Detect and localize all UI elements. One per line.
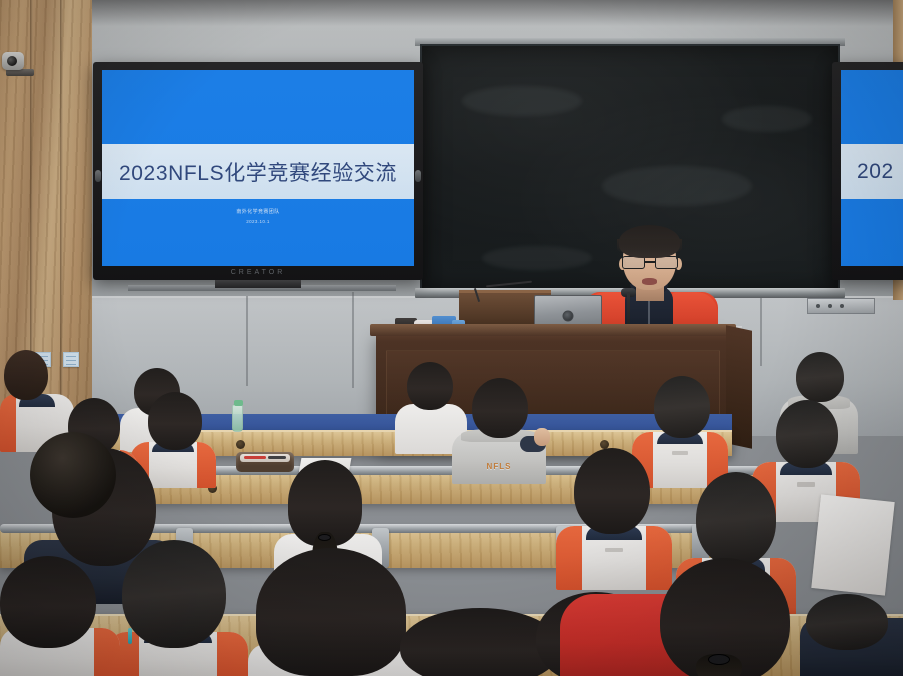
desk-grommet-1 bbox=[236, 440, 245, 449]
ceiling-shadow bbox=[0, 0, 903, 26]
audience-member-front-0 bbox=[0, 556, 120, 676]
display-panel-right: 202 bbox=[841, 70, 903, 266]
pen bbox=[128, 628, 132, 644]
wall-seam-vertical-c bbox=[760, 296, 762, 366]
display-panel-left: 2023NFLS化学竞赛经验交流 南外化学竞赛团队 2023.10.1 bbox=[102, 70, 414, 266]
paper-sheet-2 bbox=[811, 494, 894, 595]
wall-seam-vertical-a bbox=[246, 296, 248, 386]
display-side-button-left[interactable] bbox=[95, 170, 101, 182]
slide-title-band-right: 202 bbox=[841, 144, 903, 199]
hair-tie bbox=[318, 534, 331, 541]
classroom-photo: 2023NFLS化学竞赛经验交流 南外化学竞赛团队 2023.10.1 CREA… bbox=[0, 0, 903, 676]
display-brand-label: CREATOR bbox=[93, 266, 423, 279]
audience-member-row2-nfls: NFLS bbox=[452, 378, 546, 482]
slide-title-band: 2023NFLS化学竞赛经验交流 bbox=[102, 144, 414, 199]
wall-control-panel[interactable] bbox=[807, 298, 875, 314]
slide-subtitle: 南外化学竞赛团队 bbox=[102, 207, 414, 217]
interactive-display-right[interactable]: 202 bbox=[832, 62, 903, 280]
wall-seam-vertical-b bbox=[352, 292, 354, 388]
slide-subtitle-block: 南外化学竞赛团队 2023.10.1 bbox=[102, 207, 414, 227]
slide-title: 2023NFLS化学竞赛经验交流 bbox=[119, 157, 397, 187]
water-bottle bbox=[232, 404, 243, 432]
hand bbox=[534, 428, 550, 446]
presenter-mouth bbox=[642, 278, 657, 285]
laptop-logo-icon bbox=[563, 311, 574, 322]
display-side-button-right[interactable] bbox=[415, 170, 421, 182]
interactive-display-left[interactable]: 2023NFLS化学竞赛经验交流 南外化学竞赛团队 2023.10.1 CREA… bbox=[93, 62, 423, 280]
audience-member-front-5 bbox=[800, 594, 903, 676]
slide-left: 2023NFLS化学竞赛经验交流 南外化学竞赛团队 2023.10.1 bbox=[102, 70, 414, 266]
audience-member-front-4 bbox=[660, 558, 820, 676]
security-camera-icon bbox=[2, 52, 32, 78]
presenter-hair bbox=[619, 225, 680, 258]
display-stand bbox=[215, 280, 301, 288]
hair-bun bbox=[30, 432, 116, 518]
slide-title-right: 202 bbox=[841, 160, 894, 184]
hoodie-nfls-text: NFLS bbox=[487, 462, 512, 471]
audience-member-front-1 bbox=[108, 540, 248, 676]
slide-date: 2023.10.1 bbox=[102, 217, 414, 227]
slide-right: 202 bbox=[841, 70, 903, 266]
